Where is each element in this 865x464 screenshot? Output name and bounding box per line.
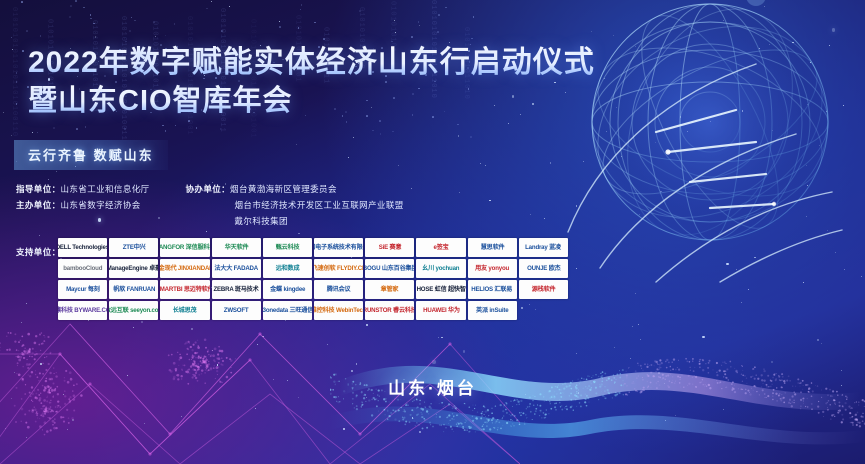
supporter-logo-label: 慧思软件: [480, 244, 504, 251]
supporter-logo-row: Maycur 每刻帆软 FANRUANSMARTBI 思迈特软件ZEBRA 斑马…: [58, 280, 568, 299]
supporter-logo: 英派 inSuite: [468, 301, 517, 320]
supporter-logo-label: HUAWEI 华为: [423, 307, 460, 314]
organizer-block: 指导单位： 山东省工业和信息化厅 主办单位： 山东省数字经济协会 协办单位： 烟…: [16, 184, 404, 227]
supporter-logo-label: 维控科技 WebinTech: [314, 307, 363, 314]
supporter-logo: 甄云科技: [263, 238, 312, 257]
supporter-logo: Landray 蓝凌: [519, 238, 568, 257]
supporter-logo: ZWSOFT: [212, 301, 261, 320]
supporter-logo-label: e签宝: [433, 244, 448, 251]
organizer-value: 山东省工业和信息化厅: [61, 184, 150, 195]
organizer-row: 指导单位： 山东省工业和信息化厅: [16, 184, 150, 195]
supporter-logo: HUAWEI 华为: [416, 301, 465, 320]
supporter-logo-label: 华天软件: [224, 244, 248, 251]
supporter-logo-label: HELIOS 汇联易: [472, 286, 513, 293]
organizer-label: 主办单位：: [16, 200, 61, 211]
supporter-logo-label: 幺川 yochuan: [422, 265, 459, 272]
event-location: 山东·烟台: [0, 374, 865, 399]
supporter-logo: 用友 yonyou: [468, 259, 517, 278]
supporter-logo-label: SiE 赛意: [378, 244, 401, 251]
tagline-badge: 云行齐鲁 数赋山东: [14, 140, 168, 170]
supporter-logo: 帆软 FANRUAN: [109, 280, 158, 299]
supporter-logo-label: 金现代 JINXIANDAI: [160, 265, 209, 272]
supporter-logo: BOGU 山东百谷集团: [365, 259, 414, 278]
poster-title: 2022年数字赋能实体经济山东行启动仪式 暨山东CIO智库年会: [28, 44, 595, 120]
supporter-logo-label: bambooCloud: [63, 265, 102, 272]
title-line-1: 2022年数字赋能实体经济山东行启动仪式: [28, 44, 595, 82]
organizer-row: 烟台市经济技术开发区工业互联网产业联盟: [186, 200, 404, 211]
supporter-logo: Maycur 每刻: [58, 280, 107, 299]
organizer-label: 指导单位：: [16, 184, 61, 195]
supporter-logo-label: SMARTBI 思迈特软件: [160, 286, 209, 293]
supporter-logo: 华天软件: [212, 238, 261, 257]
organizer-row: 主办单位： 山东省数字经济协会: [16, 200, 150, 211]
supporter-logo-label: 帆软 FANRUAN: [113, 286, 155, 293]
supporter-logo-label: 远和数成: [276, 265, 300, 272]
supporter-logo: 驭凛科技 BYWARE.COM: [58, 301, 107, 320]
supporter-logo: 金现代 JINXIANDAI: [160, 259, 209, 278]
supporter-logo-label: 金蝶 kingdee: [270, 286, 305, 293]
supporter-logo: 章管家: [365, 280, 414, 299]
supporter-logo: ZEBRA 斑马技术: [212, 280, 261, 299]
supporter-logo-label: OUNJE 欧杰: [527, 265, 560, 272]
supporter-logo-label: 中国电子系统技术有限公司: [314, 244, 363, 251]
supporter-logo-label: 章管家: [381, 286, 399, 293]
wireframe-globe-icon: [560, 0, 850, 272]
supporter-logo-label: BOGU 山东百谷集团: [365, 265, 414, 272]
organizer-row: 协办单位： 烟台黄渤海新区管理委员会: [186, 184, 404, 195]
supporter-logo: HOSE 虹信 超快智: [416, 280, 465, 299]
supporter-logo: SiE 赛意: [365, 238, 414, 257]
supporter-logo-label: 3onedata 三旺通信: [263, 307, 312, 314]
supporter-logo: 幺川 yochuan: [416, 259, 465, 278]
supporter-logo-label: 英派 inSuite: [476, 307, 508, 314]
organizer-column-right: 协办单位： 烟台黄渤海新区管理委员会 烟台市经济技术开发区工业互联网产业联盟 戴…: [186, 184, 404, 227]
event-poster: 0101010101101011010100110010101010110100…: [0, 0, 865, 464]
supporter-logo-label: 用友 yonyou: [475, 265, 509, 272]
binary-code-column: 0101010101101011010100110: [10, 7, 18, 56]
organizer-value: 烟台市经济技术开发区工业互联网产业联盟: [235, 200, 404, 211]
supporter-logo-label: ZEBRA 斑马技术: [214, 286, 259, 293]
supporter-logo-row: bambooCloudManageEngine 卓豪金现代 JINXIANDAI…: [58, 259, 568, 278]
supporter-logo: 腾讯会议: [314, 280, 363, 299]
supporter-logo-label: 飞速创软 FLYDIY.CN: [314, 265, 363, 272]
supporter-logo: 金蝶 kingdee: [263, 280, 312, 299]
supporter-logo-label: Landray 蓝凌: [526, 244, 562, 251]
supporter-logo-label: 驭凛科技 BYWARE.COM: [58, 307, 107, 314]
supporter-logo-label: ZWSOFT: [224, 307, 249, 314]
supporter-logo-label: ZTE中兴: [122, 244, 145, 251]
supporter-logo: HELIOS 汇联易: [468, 280, 517, 299]
supporter-logo-label: Maycur 每刻: [66, 286, 100, 293]
supporter-logo: DELL Technologies: [58, 238, 107, 257]
supporter-logo: 飞速创软 FLYDIY.CN: [314, 259, 363, 278]
supporter-logo: 维控科技 WebinTech: [314, 301, 363, 320]
supporter-logo: RUNSTOR 睿云科技: [365, 301, 414, 320]
supporter-logo-grid: DELL TechnologiesZTE中兴SANGFOR 深信服科技华天软件甄…: [58, 238, 568, 320]
supporter-logo-label: 长城思茂: [173, 307, 197, 314]
supporter-logo-label: RUNSTOR 睿云科技: [365, 307, 414, 314]
supporter-logo-label: 法大大 FADADA: [214, 265, 258, 272]
supporter-logo-label: 腾讯会议: [327, 286, 351, 293]
dotted-wave-ribbon-decoration: [330, 334, 865, 464]
supporter-logo: 远和数成: [263, 259, 312, 278]
organizer-row: 戴尔科技集团: [186, 216, 404, 227]
organizer-label: 协办单位：: [186, 184, 231, 195]
supporter-logo: 源栈软件: [519, 280, 568, 299]
organizer-column-left: 指导单位： 山东省工业和信息化厅 主办单位： 山东省数字经济协会: [16, 184, 150, 227]
supporter-logo-label: 源栈软件: [532, 286, 556, 293]
supporter-logo: OUNJE 欧杰: [519, 259, 568, 278]
organizer-value: 戴尔科技集团: [235, 216, 288, 227]
supporter-logo-label: 致远互联 seeyon.com: [109, 307, 158, 314]
supporter-logo: 法大大 FADADA: [212, 259, 261, 278]
supporter-logo: 慧思软件: [468, 238, 517, 257]
title-line-2: 暨山东CIO智库年会: [28, 82, 595, 120]
organizer-value: 山东省数字经济协会: [61, 200, 141, 211]
supporter-logo: SANGFOR 深信服科技: [160, 238, 209, 257]
supporter-logo-row: DELL TechnologiesZTE中兴SANGFOR 深信服科技华天软件甄…: [58, 238, 568, 257]
supporter-logo-label: 甄云科技: [276, 244, 300, 251]
supporter-logo-row: 驭凛科技 BYWARE.COM致远互联 seeyon.com长城思茂ZWSOFT…: [58, 301, 568, 320]
supporter-logo-label: SANGFOR 深信服科技: [160, 244, 209, 251]
supporter-logo: 中国电子系统技术有限公司: [314, 238, 363, 257]
supporter-logo: 致远互联 seeyon.com: [109, 301, 158, 320]
supporter-logo: bambooCloud: [58, 259, 107, 278]
supporter-logo-label: HOSE 虹信 超快智: [416, 286, 465, 293]
supporter-logo: 长城思茂: [160, 301, 209, 320]
supporter-logo: SMARTBI 思迈特软件: [160, 280, 209, 299]
supporter-logo: e签宝: [416, 238, 465, 257]
supporters-label: 支持单位：: [16, 246, 61, 258]
supporter-logo-label: DELL Technologies: [58, 244, 107, 251]
supporter-logo: ManageEngine 卓豪: [109, 259, 158, 278]
supporter-logo-label: ManageEngine 卓豪: [109, 265, 158, 272]
supporter-logo: 3onedata 三旺通信: [263, 301, 312, 320]
supporter-logo: ZTE中兴: [109, 238, 158, 257]
organizer-value: 烟台黄渤海新区管理委员会: [230, 184, 337, 195]
